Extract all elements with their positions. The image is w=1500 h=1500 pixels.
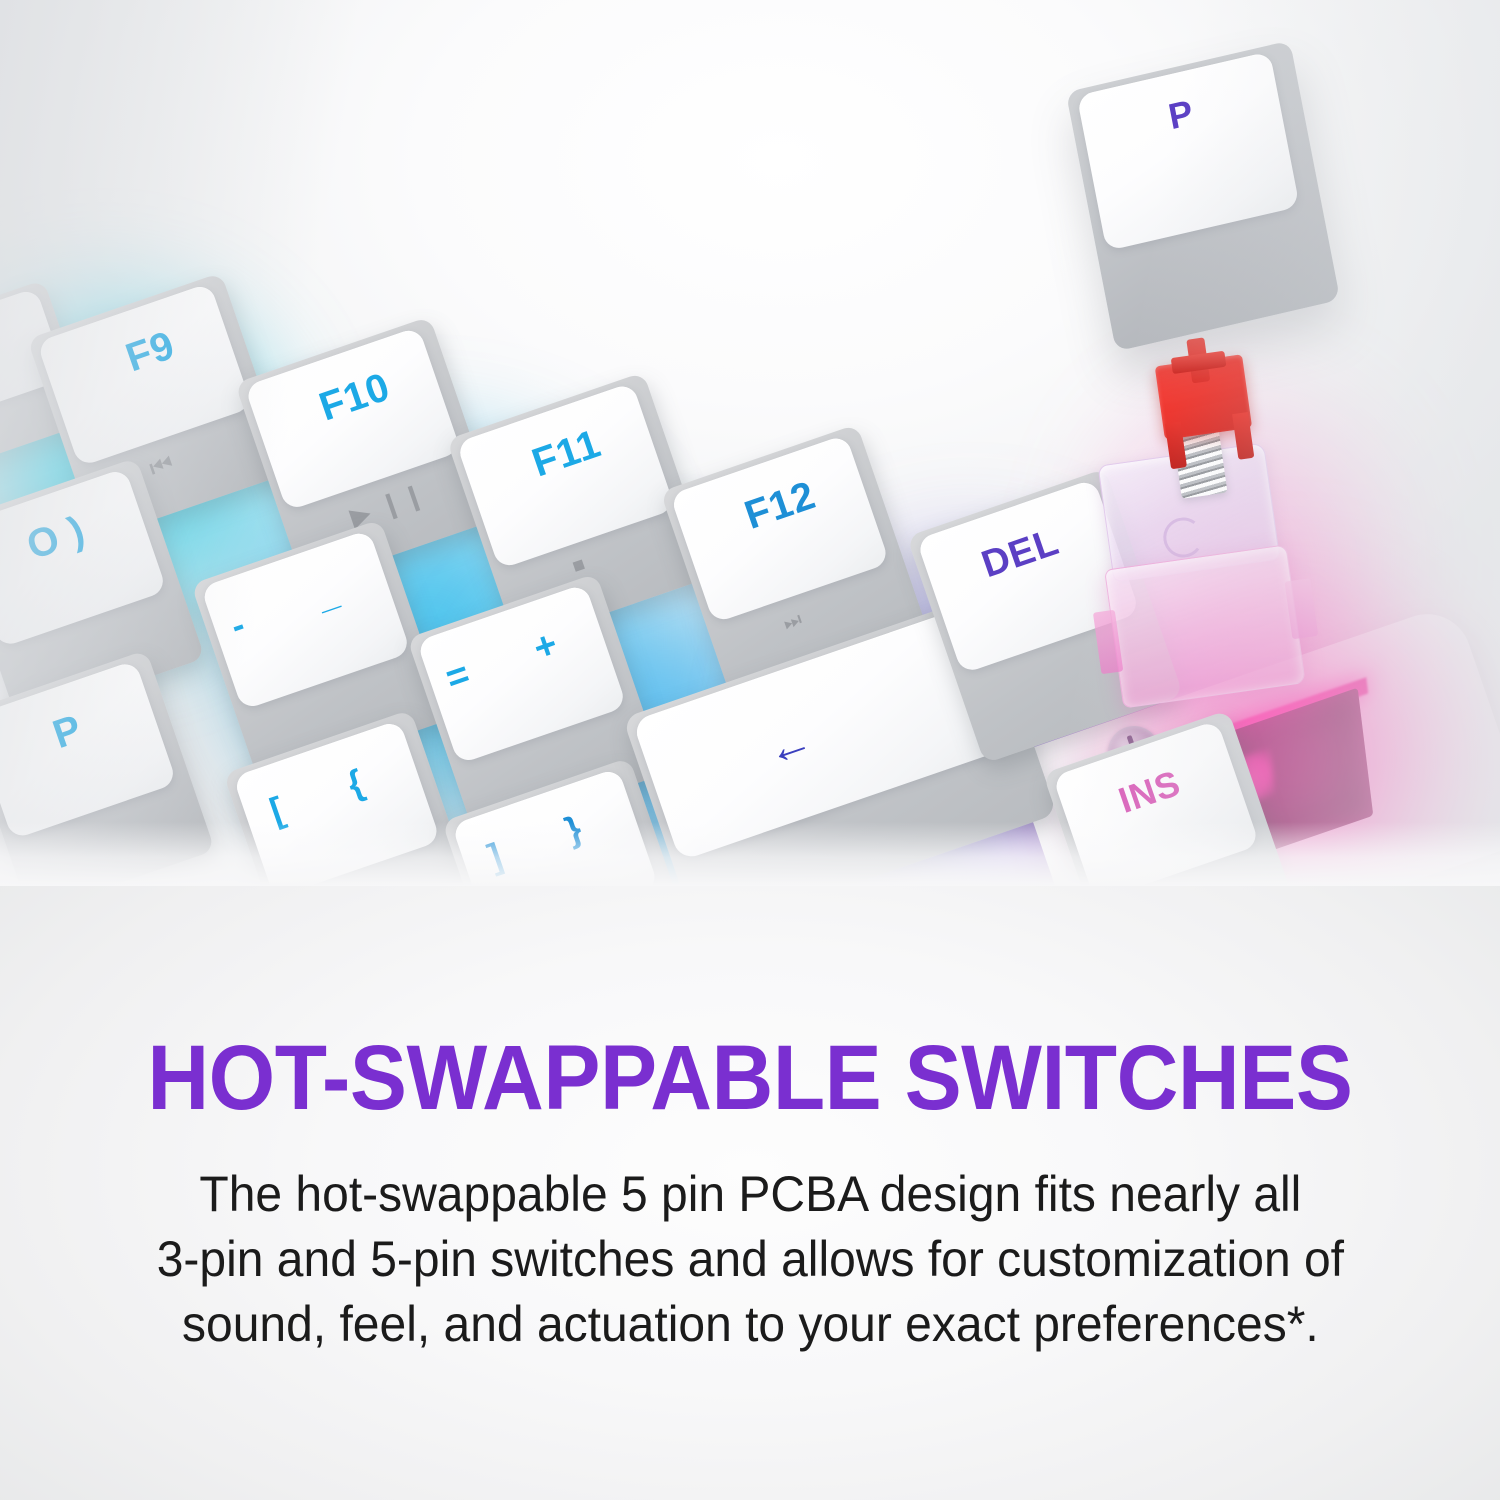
keycap-legend-ins: INS <box>1114 765 1185 819</box>
keycap-legend-minus: - _ <box>226 563 374 644</box>
keycap-legend-f10: F10 <box>315 367 395 428</box>
copy-panel: HOT-SWAPPABLE SWITCHES The hot-swappable… <box>0 886 1500 1500</box>
subcopy: The hot-swappable 5 pin PCBA design fits… <box>156 1162 1343 1357</box>
keycap-legend-floating: P <box>1166 94 1197 135</box>
keycap-legend-f9: F9 <box>121 325 180 379</box>
red-linear-switch-stem <box>1143 329 1264 472</box>
photo-bottom-fade <box>0 822 1500 886</box>
keycap-legend-o: O ) <box>22 510 90 567</box>
keycap-legend-del: DEL <box>977 523 1063 584</box>
keycap-floating-exploded: P <box>1066 40 1341 351</box>
keycap-legend-left-bracket: [ { <box>265 754 396 829</box>
product-photo: F9 ⏮ O ) P F10 ▶ ❙❙ <box>0 0 1500 886</box>
keycap-legend-f11: F11 <box>527 423 605 483</box>
feature-card: F9 ⏮ O ) P F10 ▶ ❙❙ <box>0 0 1500 1500</box>
subcopy-line-1: The hot-swappable 5 pin PCBA design fits… <box>156 1162 1343 1227</box>
switch-lower-housing <box>1104 544 1306 708</box>
keycap-legend-p: P <box>48 709 87 756</box>
headline: HOT-SWAPPABLE SWITCHES <box>147 1032 1352 1124</box>
keycap-legend-equals: = + <box>441 615 590 698</box>
subcopy-line-2: 3-pin and 5-pin switches and allows for … <box>156 1227 1343 1292</box>
keycap-legend-f12: F12 <box>740 475 820 536</box>
subcopy-line-3: sound, feel, and actuation to your exact… <box>156 1292 1343 1357</box>
